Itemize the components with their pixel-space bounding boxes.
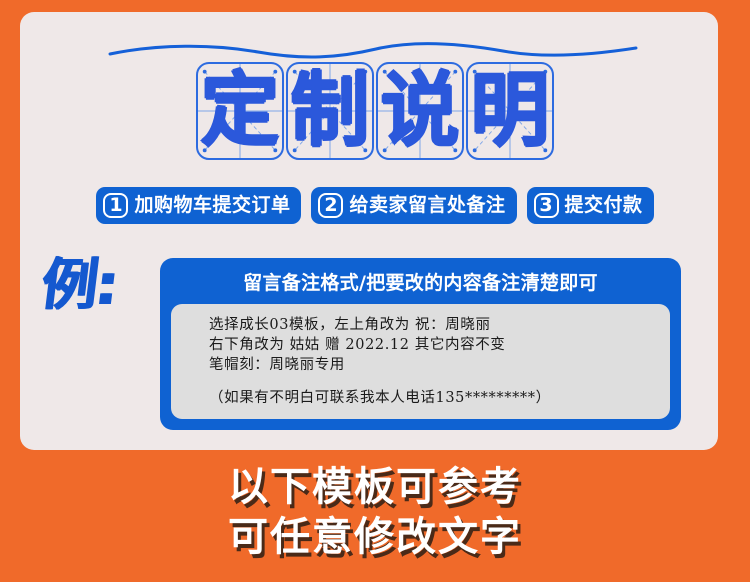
example-header-title: 留言备注格式/把要改的内容备注清楚即可 bbox=[160, 258, 681, 304]
example-line: 选择成长03模板，左上角改为 祝：周晓丽 bbox=[209, 315, 670, 335]
step-label: 加购物车提交订单 bbox=[134, 196, 290, 215]
title-char-glyph: 制 bbox=[289, 64, 371, 158]
steps-row: 1 加购物车提交订单 2 给卖家留言处备注 3 提交付款 bbox=[0, 187, 750, 224]
step-number-badge: 3 bbox=[534, 193, 559, 218]
title-char-glyph: 说 bbox=[379, 64, 461, 158]
title-grid: 定 制 说 bbox=[0, 62, 750, 160]
example-label: 例: bbox=[39, 258, 120, 314]
title-char-glyph: 定 bbox=[199, 64, 281, 158]
step-label: 提交付款 bbox=[565, 196, 643, 215]
example-note: （如果有不明白可联系我本人电话135*********） bbox=[209, 388, 670, 408]
bottom-caption: 以下模板可参考 可任意修改文字 bbox=[0, 462, 750, 562]
step-item-2[interactable]: 2 给卖家留言处备注 bbox=[311, 187, 516, 224]
title-char-glyph: 明 bbox=[469, 64, 551, 158]
title-char-cell: 定 bbox=[196, 62, 284, 160]
title-char-cell: 制 bbox=[286, 62, 374, 160]
step-number-badge: 1 bbox=[103, 193, 128, 218]
title-char-cell: 说 bbox=[376, 62, 464, 160]
step-number-badge: 2 bbox=[318, 193, 343, 218]
step-item-1[interactable]: 1 加购物车提交订单 bbox=[96, 187, 301, 224]
poster-root: 定 制 说 bbox=[0, 0, 750, 582]
example-box: 留言备注格式/把要改的内容备注清楚即可 选择成长03模板，左上角改为 祝：周晓丽… bbox=[160, 258, 681, 430]
example-content-area: 选择成长03模板，左上角改为 祝：周晓丽 右下角改为 姑姑 赠 2022.12 … bbox=[171, 304, 670, 419]
step-label: 给卖家留言处备注 bbox=[349, 196, 505, 215]
title-char-cell: 明 bbox=[466, 62, 554, 160]
bottom-caption-line1: 以下模板可参考 bbox=[0, 462, 750, 512]
step-item-3[interactable]: 3 提交付款 bbox=[527, 187, 654, 224]
example-line: 笔帽刻：周晓丽专用 bbox=[209, 355, 670, 375]
bottom-caption-line2: 可任意修改文字 bbox=[0, 512, 750, 562]
example-line: 右下角改为 姑姑 赠 2022.12 其它内容不变 bbox=[209, 335, 670, 355]
